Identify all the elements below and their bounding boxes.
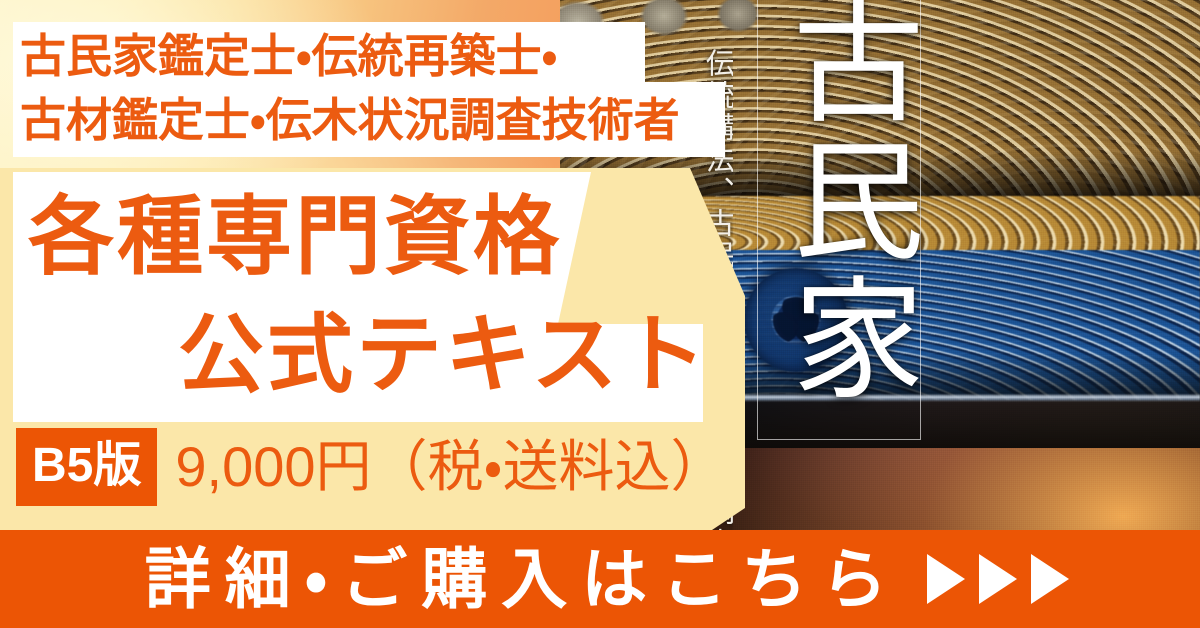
cta-bar[interactable]: 詳細・ご購入はこちら (0, 530, 1200, 628)
cta-label: 詳細・ご購入はこちら (131, 546, 901, 612)
price-amount: 9,000円（税・送料込） (175, 439, 726, 495)
cta-arrows (927, 554, 1069, 604)
price-row: B5版 9,000円（税・送料込） (16, 428, 727, 506)
headline-line-2: 公式テキスト (18, 296, 708, 414)
triangle-right-icon (1031, 554, 1069, 604)
cover-title: 古民家 (760, 0, 920, 408)
format-badge: B5版 (16, 428, 157, 506)
triangle-right-icon (927, 554, 965, 604)
headline-text: 各種専門資格 公式テキスト (18, 178, 708, 414)
headline-line-1: 各種専門資格 (18, 178, 708, 296)
qualifications-text: 古民家鑑定士・伝統再築士・ 古材鑑定士・伝木状況調査技術者 (20, 24, 720, 152)
qualification-line-1: 古民家鑑定士・伝統再築士・ (20, 24, 720, 88)
triangle-right-icon (979, 554, 1017, 604)
promo-banner: 伝統構法、古民家活用のための調査と再生の 古民家 古民家鑑定士・伝統再築士・ 古… (0, 0, 1200, 628)
qualification-line-2: 古材鑑定士・伝木状況調査技術者 (20, 88, 720, 152)
